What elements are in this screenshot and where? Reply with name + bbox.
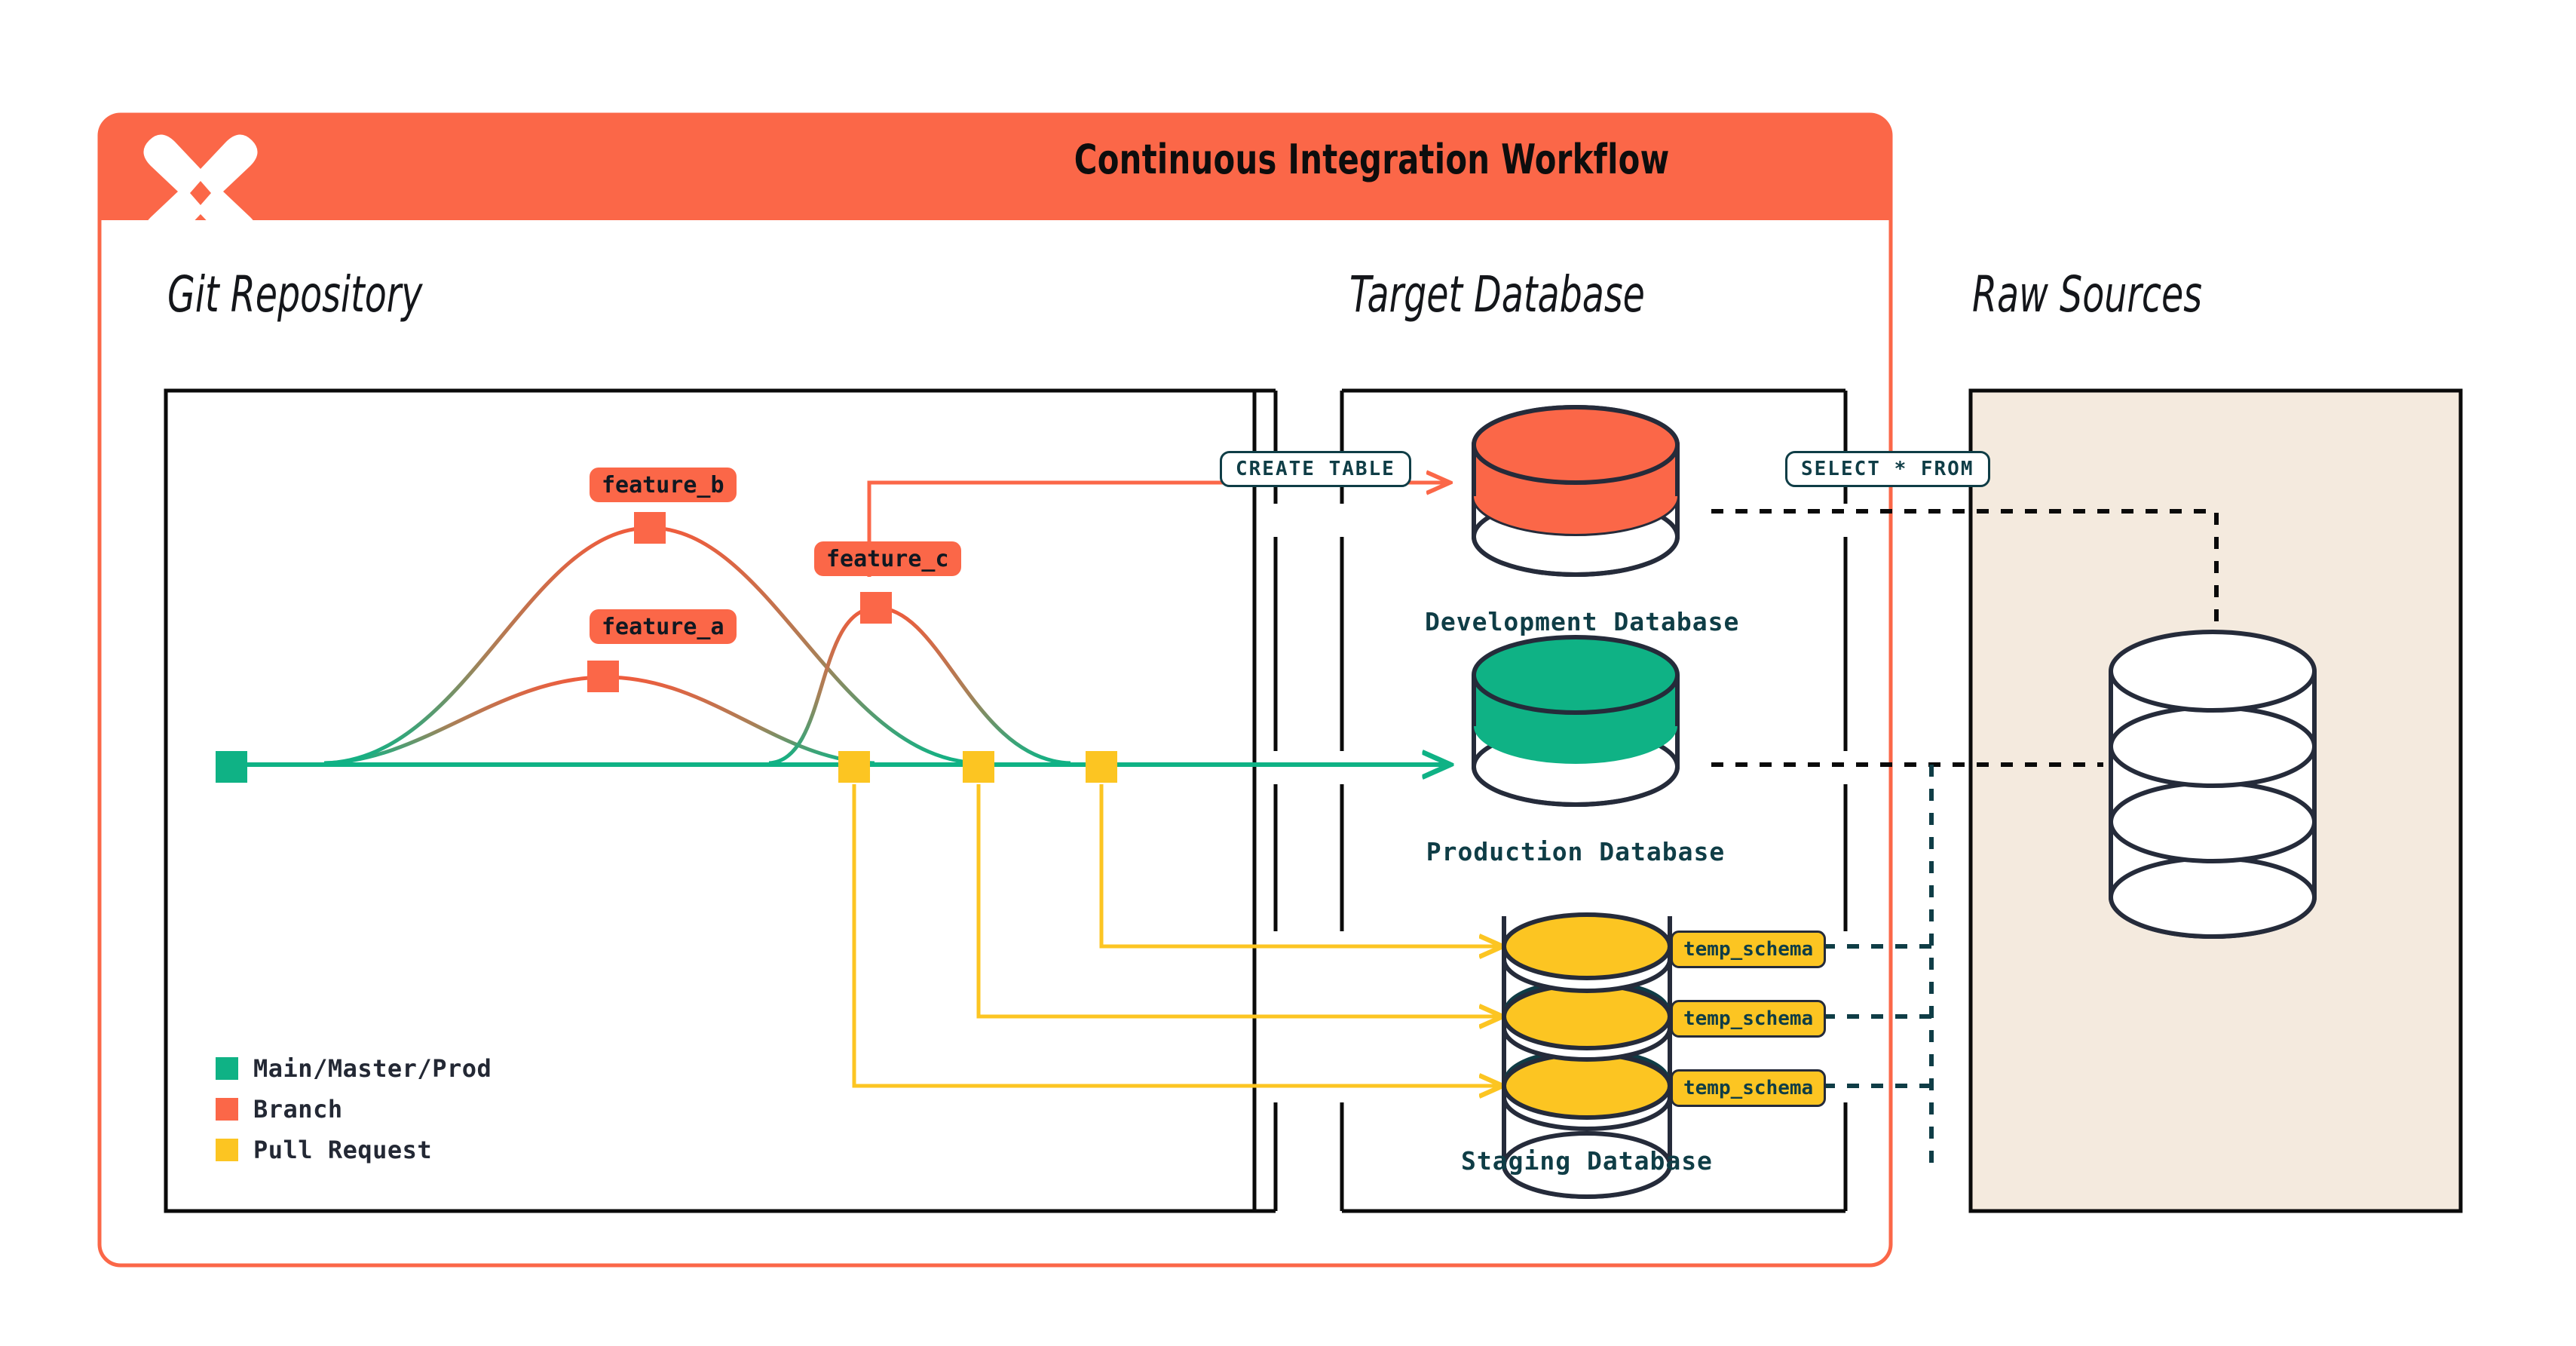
schema-label-3[interactable]: temp_schema (1671, 1069, 1826, 1107)
branch-label-feature-b[interactable]: feature_b (590, 468, 737, 502)
production-database-cylinder[interactable] (1474, 637, 1677, 805)
development-database-label: Development Database (1425, 607, 1726, 636)
sql-label-select-from[interactable]: SELECT * FROM (1785, 451, 1990, 487)
arrow-pr2-to-staging-mid (979, 784, 1500, 1016)
git-repository-panel (166, 391, 1254, 1211)
development-database-cylinder[interactable] (1474, 407, 1677, 575)
arrow-pr1-to-staging-bottom (854, 784, 1500, 1086)
commit-node-main[interactable] (216, 751, 247, 783)
panel-divider-inner (1254, 391, 1276, 1211)
production-database-label: Production Database (1425, 837, 1726, 866)
commit-node-feature-b[interactable] (634, 512, 666, 544)
sql-label-create-table[interactable]: CREATE TABLE (1220, 451, 1411, 487)
branch-label-feature-a[interactable]: feature_a (590, 609, 737, 644)
diagram-canvas: Continuous Integration Workflow Git Repo… (0, 0, 2576, 1346)
page-title: Continuous Integration Workflow (1074, 136, 1489, 183)
legend-swatch-branch (216, 1098, 238, 1121)
commit-node-pr-2[interactable] (963, 751, 994, 783)
legend-swatch-main (216, 1057, 238, 1080)
legend-swatch-pr (216, 1139, 238, 1161)
schema-label-2[interactable]: temp_schema (1671, 1000, 1826, 1038)
section-heading-target-database: Target Database (1349, 265, 1645, 323)
commit-node-feature-a[interactable] (587, 661, 619, 692)
raw-sources-cylinder[interactable] (2111, 632, 2314, 937)
section-heading-raw-sources: Raw Sources (1972, 265, 2202, 323)
legend-label-main: Main/Master/Prod (253, 1054, 492, 1083)
legend-label-branch: Branch (253, 1095, 343, 1124)
commit-node-pr-3[interactable] (1086, 751, 1117, 783)
section-heading-git-repository: Git Repository (167, 265, 422, 323)
schema-label-1[interactable]: temp_schema (1671, 931, 1826, 968)
legend-label-pr: Pull Request (253, 1136, 432, 1164)
branch-curve-feature-c (769, 608, 1071, 763)
commit-node-feature-c[interactable] (860, 592, 892, 624)
staging-database-label: Staging Database (1436, 1146, 1738, 1176)
commit-node-pr-1[interactable] (838, 751, 870, 783)
branch-label-feature-c[interactable]: feature_c (814, 541, 961, 576)
